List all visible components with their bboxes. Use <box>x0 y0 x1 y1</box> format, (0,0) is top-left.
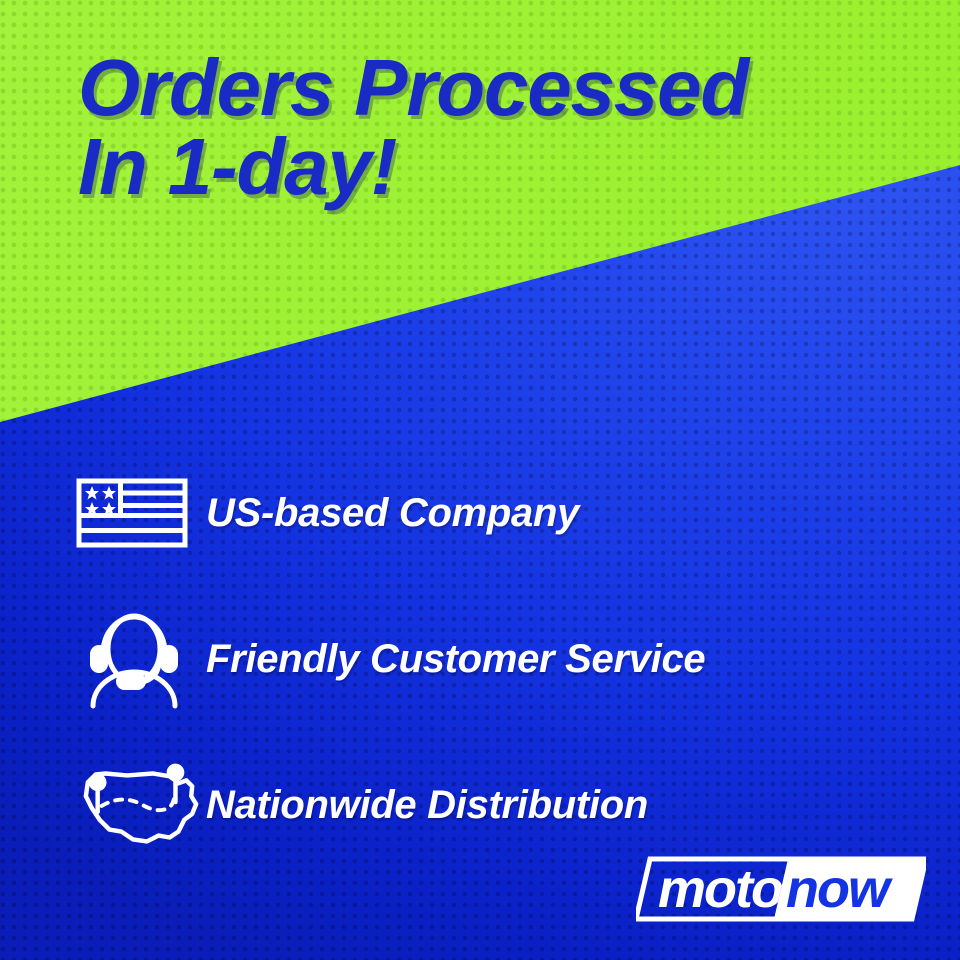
list-item: US-based Company <box>76 440 916 586</box>
logo-text-moto: moto <box>658 859 783 919</box>
list-item-label: US-based Company <box>206 491 579 536</box>
page-title: Orders Processed In 1-day! <box>78 48 938 206</box>
promo-graphic: Orders Processed In 1-day! <box>0 0 960 960</box>
logo-text-now: now <box>786 859 893 919</box>
headset-icon <box>76 607 206 711</box>
list-item-label: Friendly Customer Service <box>206 637 705 682</box>
us-flag-icon <box>76 478 206 548</box>
list-item: Friendly Customer Service <box>76 586 916 732</box>
list-item-label: Nationwide Distribution <box>206 783 648 828</box>
feature-list: US-based Company <box>76 440 916 878</box>
usa-map-pins-icon <box>76 760 206 850</box>
motonow-logo[interactable]: moto now <box>636 853 926 925</box>
